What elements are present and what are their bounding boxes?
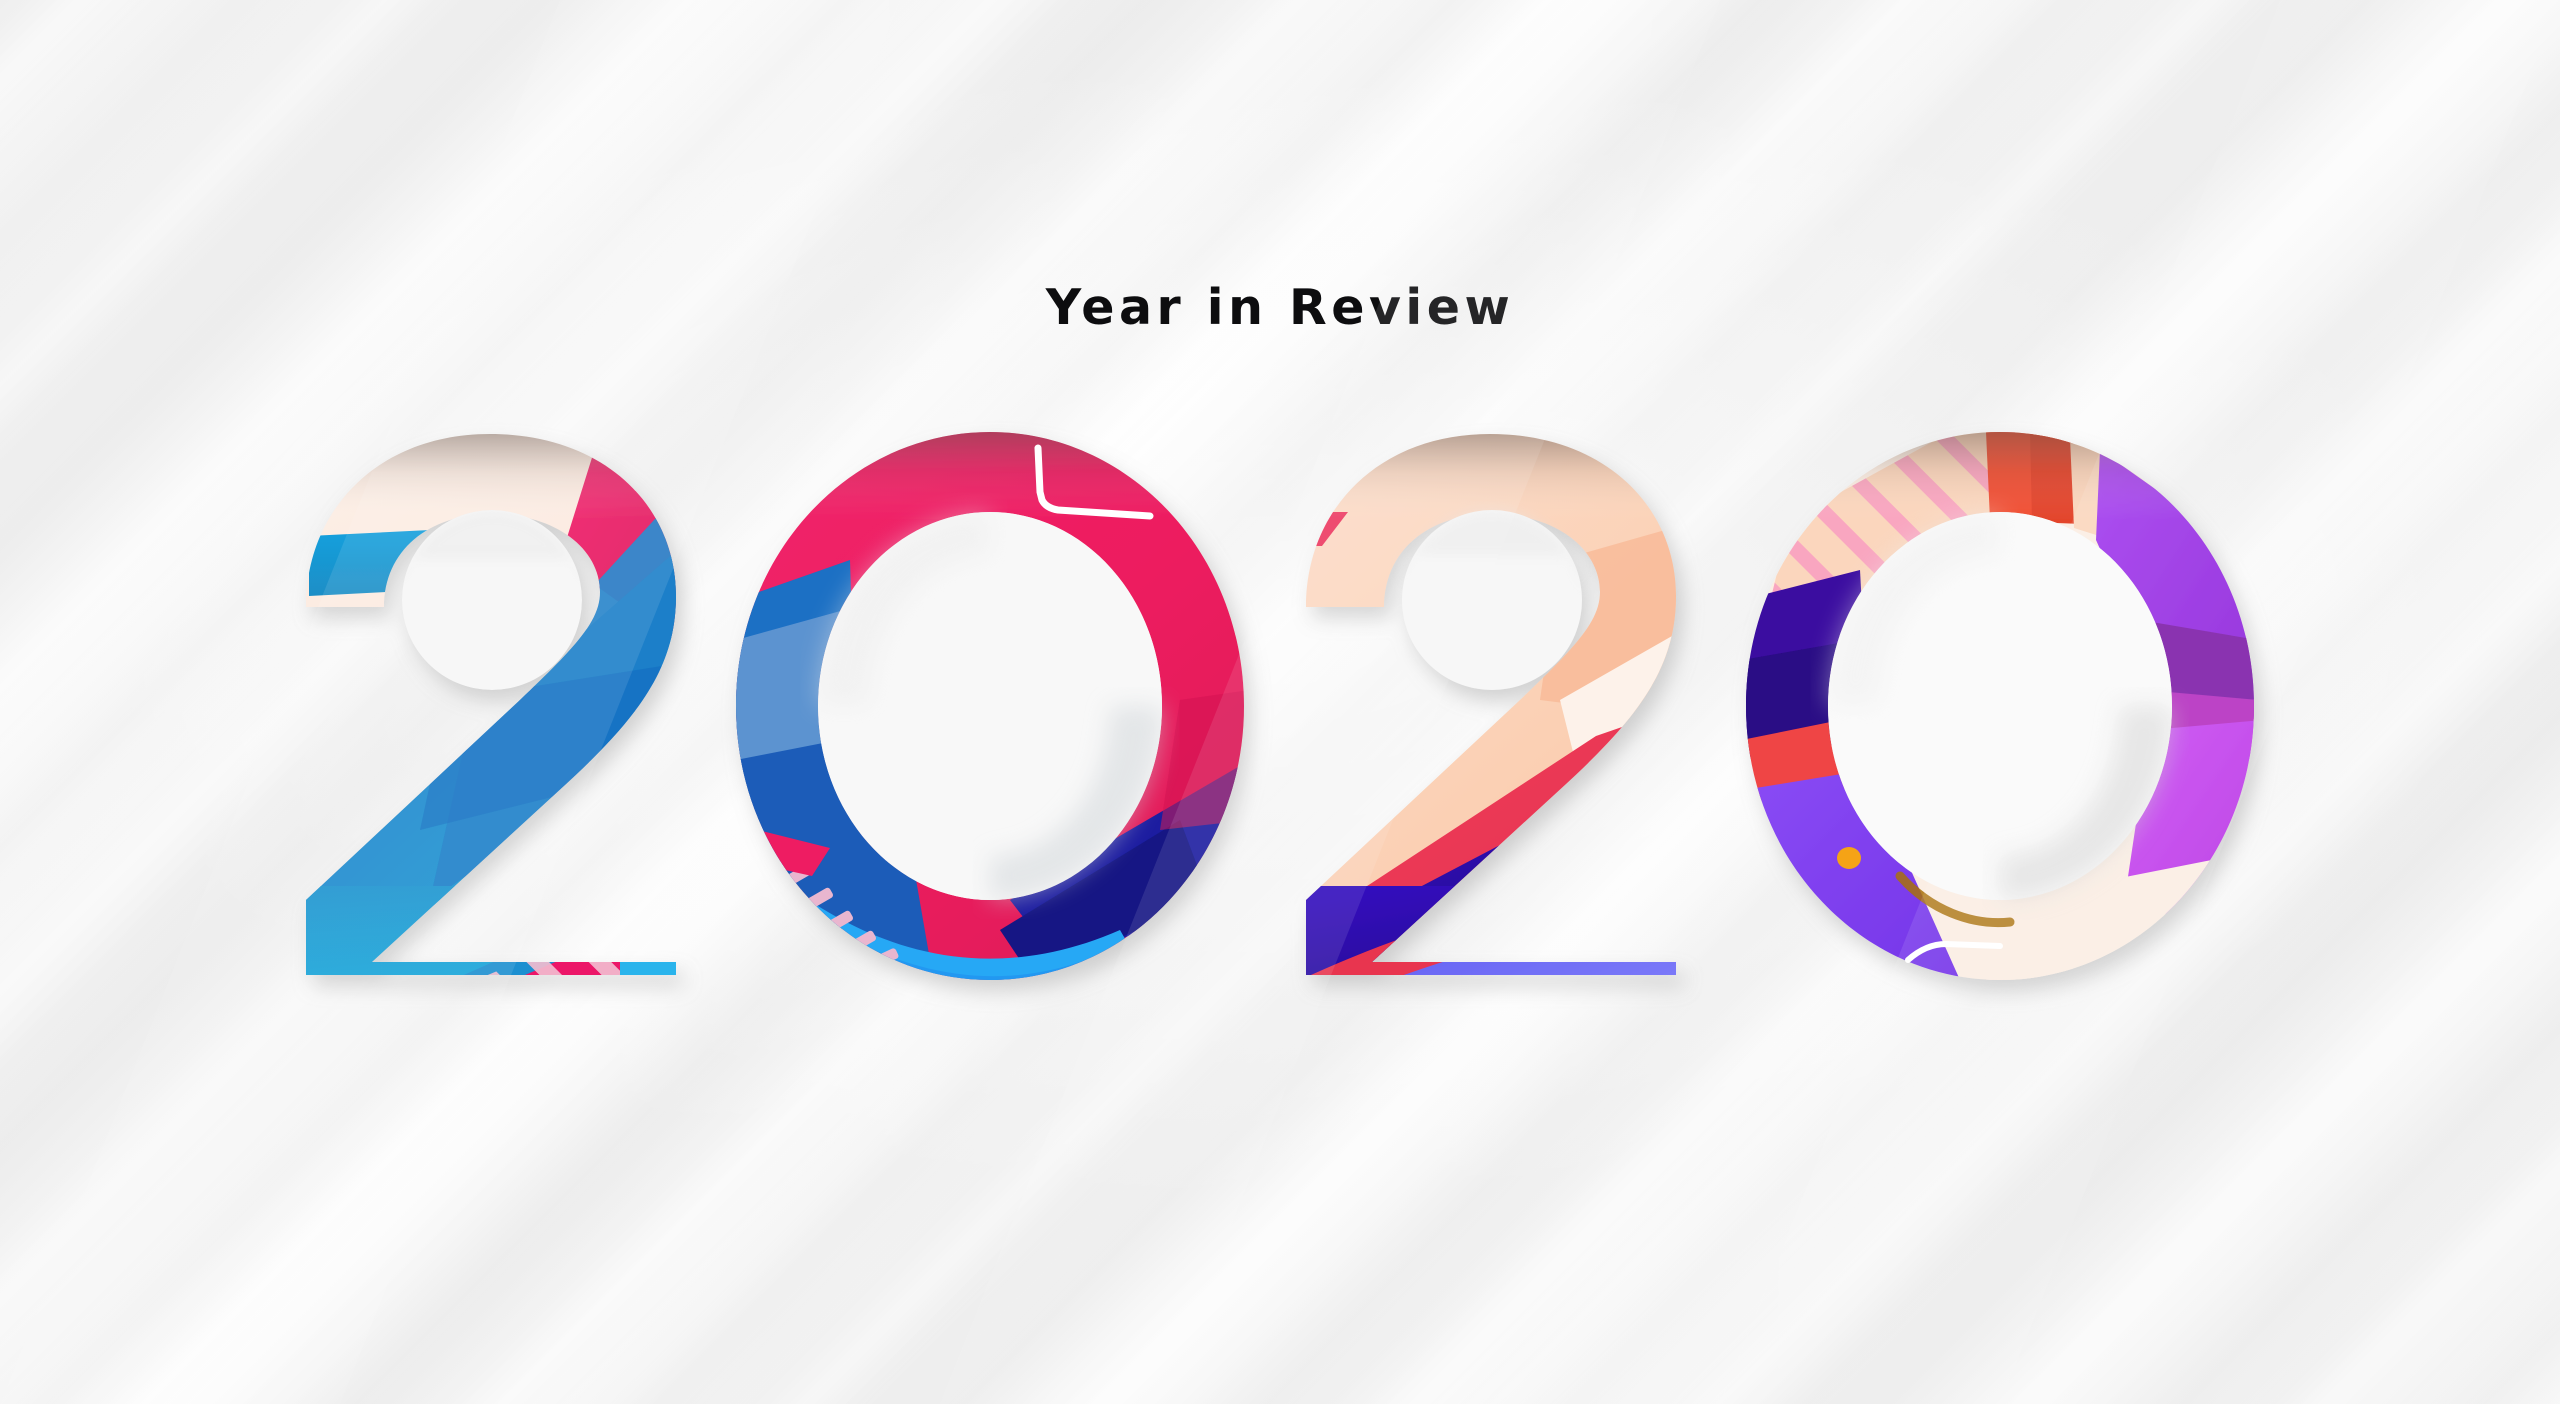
artwork-sheen: [0, 0, 2560, 1404]
poster-canvas: Year in Review: [0, 0, 2560, 1404]
digit3-base-edge-line: [1300, 978, 1702, 988]
digit2-top-shadow: [736, 432, 1250, 520]
year-2020-illustration: [0, 0, 2560, 1404]
year-graphic: [0, 0, 2560, 1404]
digit1-base-cyan-corner: [620, 960, 710, 990]
digit2-counter: [818, 512, 1162, 900]
digit4-orange-dot: [1837, 847, 1861, 869]
